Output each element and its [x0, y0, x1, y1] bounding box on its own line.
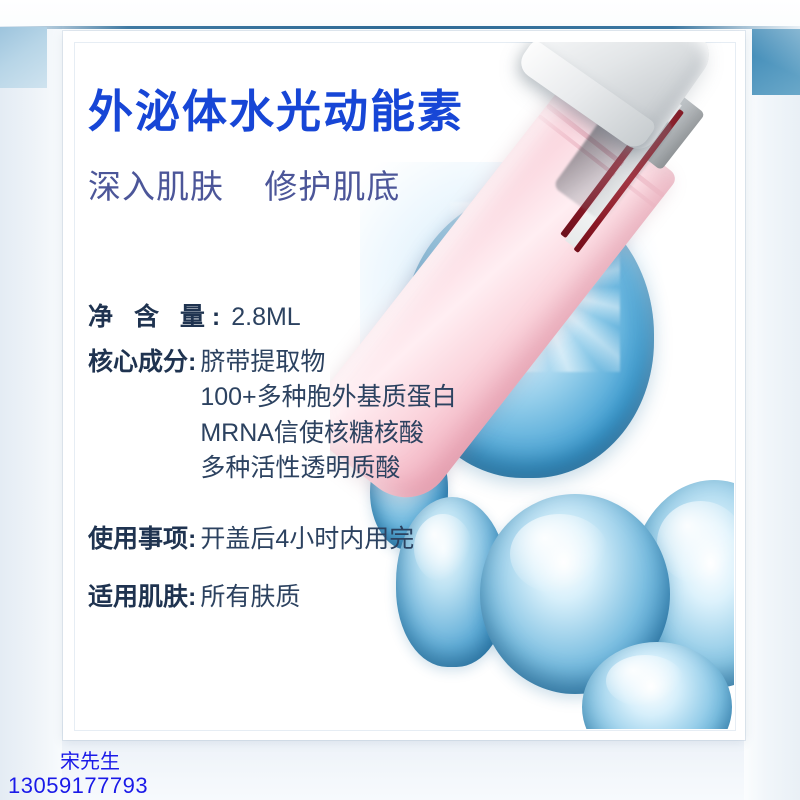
ingredient-line: MRNA信使核糖核酸 — [200, 416, 456, 452]
spec-spacer — [88, 566, 488, 580]
decorative-square-top-right-sheen — [752, 29, 800, 95]
product-subtitle: 深入肌肤 修护肌底 — [88, 160, 488, 208]
top-horizontal-rule — [0, 26, 800, 29]
ingredient-line: 多种活性透明质酸 — [200, 451, 456, 487]
spec-label: 使用事项: — [88, 522, 196, 558]
spec-value: 2.8ML — [231, 300, 300, 336]
ingredient-line: 100+多种胞外基质蛋白 — [200, 380, 456, 416]
seller-watermark: 宋先生 13059177793 — [8, 752, 148, 797]
spec-spacer — [88, 496, 488, 522]
spec-value: 开盖后4小时内用完 — [200, 522, 414, 558]
spec-label: 适用肌肤: — [88, 580, 196, 616]
spec-label: 净 含 量: — [88, 300, 227, 336]
specification-list: 净 含 量: 2.8ML 核心成分: 脐带提取物 100+多种胞外基质蛋白 MR… — [88, 300, 488, 625]
spec-value: 脐带提取物 100+多种胞外基质蛋白 MRNA信使核糖核酸 多种活性透明质酸 — [200, 345, 456, 487]
seller-name: 宋先生 — [8, 752, 148, 774]
spec-row-net-content: 净 含 量: 2.8ML — [88, 300, 488, 336]
spec-row-core-ingredients: 核心成分: 脐带提取物 100+多种胞外基质蛋白 MRNA信使核糖核酸 多种活性… — [88, 345, 488, 487]
subtitle-part-2: 修护肌底 — [264, 168, 400, 205]
left-margin-band — [0, 0, 62, 800]
product-title: 外泌体水光动能素 — [88, 86, 488, 138]
top-margin-band — [0, 0, 800, 26]
spec-label: 核心成分: — [88, 345, 196, 381]
headline-block: 外泌体水光动能素 深入肌肤 修护肌底 — [88, 86, 488, 208]
spec-value: 所有肤质 — [200, 580, 300, 616]
spec-row-usage-note: 使用事项: 开盖后4小时内用完 — [88, 522, 488, 558]
spec-row-skin-type: 适用肌肤: 所有肤质 — [88, 580, 488, 616]
right-margin-band — [744, 0, 800, 800]
subtitle-part-1: 深入肌肤 — [88, 168, 224, 205]
decorative-square-top-left — [0, 27, 47, 88]
ingredient-line: 脐带提取物 — [200, 345, 456, 381]
seller-phone: 13059177793 — [8, 774, 148, 798]
product-detail-screenshot: 外泌体水光动能素 深入肌肤 修护肌底 净 含 量: 2.8ML 核心成分: 脐带… — [0, 0, 800, 800]
